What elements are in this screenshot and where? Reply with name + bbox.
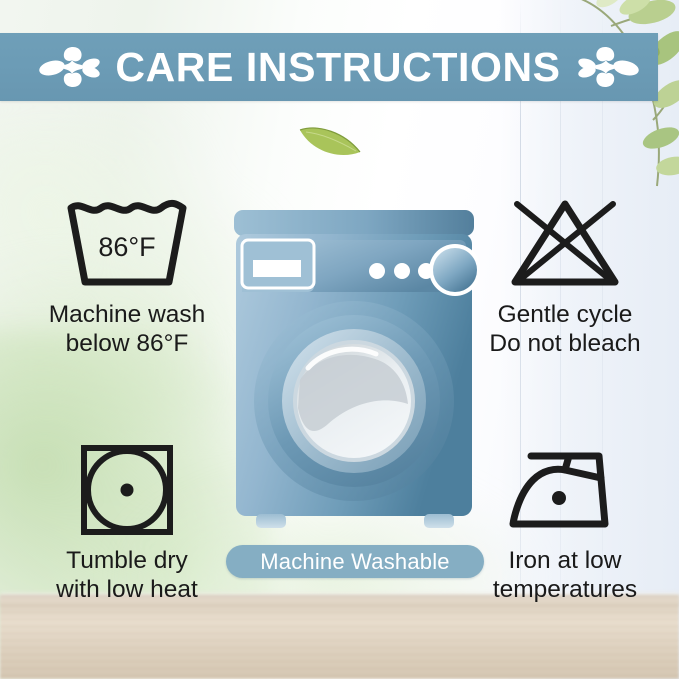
- care-item-iron-low: Iron at low temperatures: [452, 442, 678, 604]
- fleur-de-lis-ornament-left-icon: [39, 43, 101, 91]
- drawer-handle: [253, 260, 301, 277]
- care-item-tumble-dry: Tumble dry with low heat: [14, 442, 240, 604]
- machine-washable-label: Machine Washable: [260, 549, 449, 575]
- washing-machine-illustration: [228, 208, 480, 546]
- banner: CARE INSTRUCTIONS: [0, 33, 658, 101]
- iron-low-icon: [503, 442, 627, 538]
- indicator-dot-1: [369, 263, 385, 279]
- wash-tub-icon: 86°F: [65, 196, 189, 292]
- indicator-dot-2: [394, 263, 410, 279]
- machine-foot-left: [256, 514, 286, 528]
- machine-top-lid: [234, 210, 474, 236]
- table-grain: [0, 605, 679, 679]
- care-item-machine-wash: 86°F Machine wash below 86°F: [14, 196, 240, 358]
- floating-leaf-icon: [296, 118, 366, 162]
- machine-foot-right: [424, 514, 454, 528]
- care-caption-machine-wash: Machine wash below 86°F: [49, 300, 206, 358]
- care-caption-iron-low: Iron at low temperatures: [493, 546, 637, 604]
- machine-washable-badge: Machine Washable: [226, 545, 484, 578]
- tumble-dry-low-icon: [72, 442, 182, 538]
- care-caption-tumble-dry: Tumble dry with low heat: [56, 546, 198, 604]
- banner-title: CARE INSTRUCTIONS: [115, 44, 560, 91]
- wash-tub-temperature: 86°F: [98, 232, 155, 262]
- fleur-de-lis-ornament-right-icon: [577, 43, 639, 91]
- care-instructions-infographic: CARE INSTRUCTIONS 86°F Machine wash belo…: [0, 0, 679, 679]
- control-knob: [433, 248, 477, 292]
- crossed-triangle-icon: [503, 196, 627, 292]
- care-caption-do-not-bleach: Gentle cycle Do not bleach: [489, 300, 640, 358]
- care-item-do-not-bleach: Gentle cycle Do not bleach: [452, 196, 678, 358]
